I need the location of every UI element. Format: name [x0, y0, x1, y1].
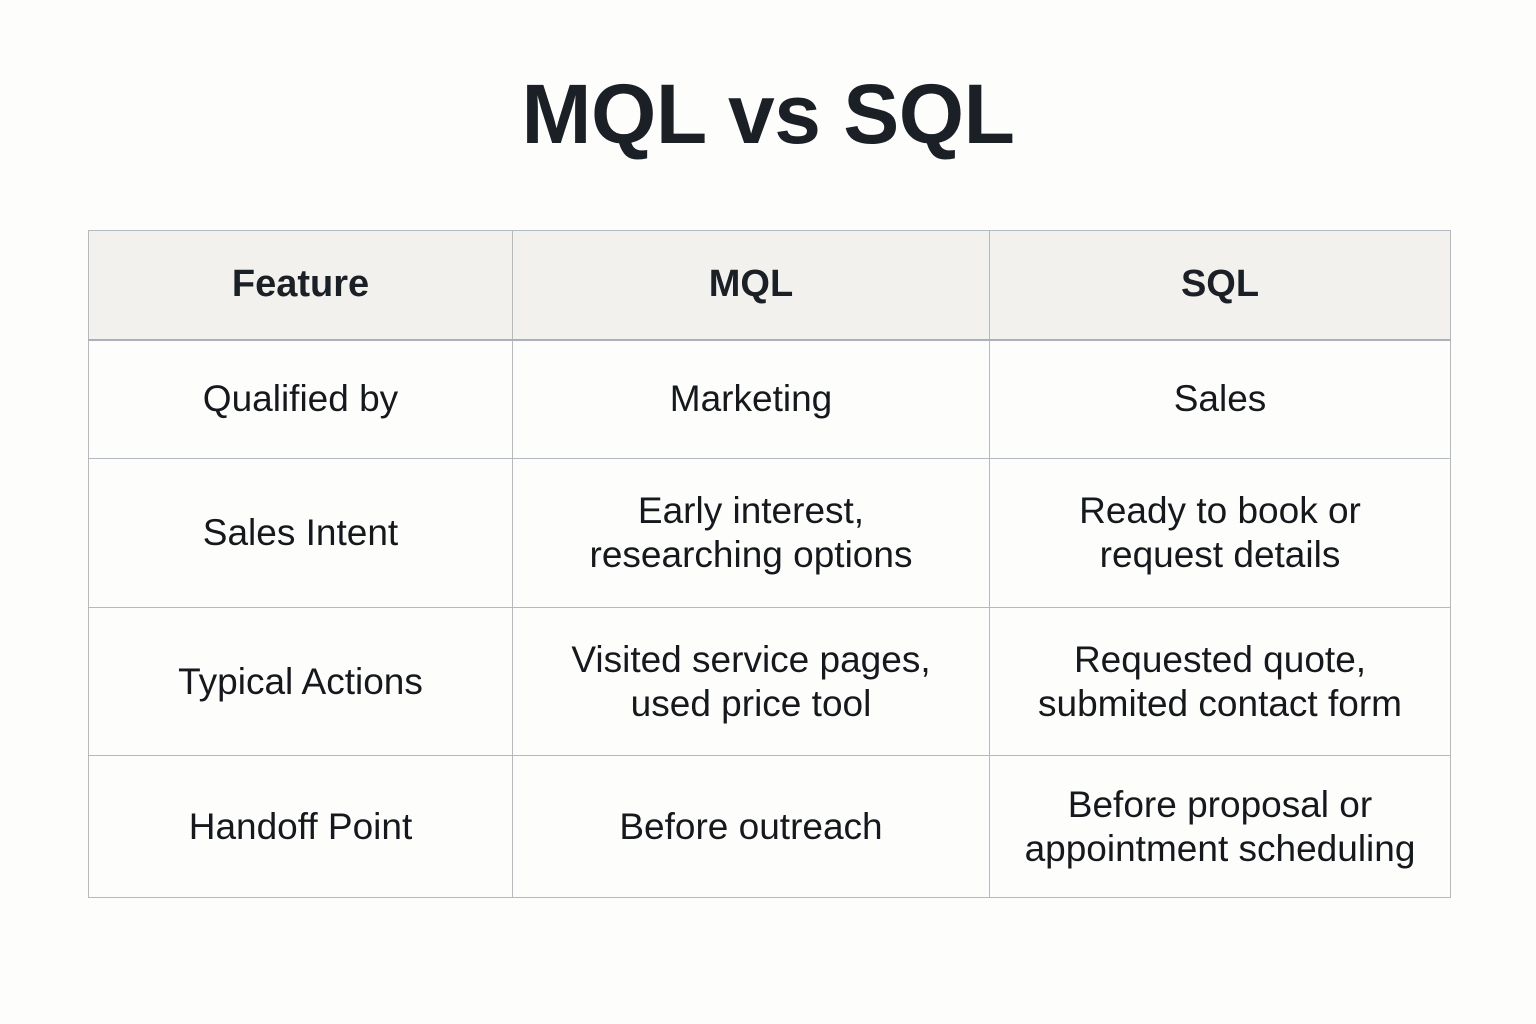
cell-mql: Before outreach — [513, 756, 990, 898]
table-row: Handoff Point Before outreach Before pro… — [89, 756, 1451, 898]
cell-sql: Before proposal or appointment schedulin… — [990, 756, 1451, 898]
page-title: MQL vs SQL — [0, 72, 1536, 156]
column-header-sql-label: SQL — [1004, 262, 1436, 308]
cell-mql-text: Visited service pages, used price tool — [527, 638, 975, 725]
column-header-feature: Feature — [89, 231, 513, 340]
table-row: Typical Actions Visited service pages, u… — [89, 608, 1451, 756]
cell-mql-text: Marketing — [527, 377, 975, 421]
cell-feature-text: Typical Actions — [103, 660, 498, 704]
comparison-table: Feature MQL SQL Qualified by Ma — [88, 230, 1451, 898]
cell-feature: Qualified by — [89, 340, 513, 459]
cell-feature: Sales Intent — [89, 459, 513, 608]
slide-canvas: MQL vs SQL Feature MQL SQL — [0, 0, 1536, 1024]
comparison-table-container: Feature MQL SQL Qualified by Ma — [88, 230, 1450, 898]
table-header-row: Feature MQL SQL — [89, 231, 1451, 340]
cell-mql: Marketing — [513, 340, 990, 459]
cell-feature-text: Sales Intent — [103, 511, 498, 555]
cell-sql-text: Sales — [1004, 377, 1436, 421]
cell-feature: Typical Actions — [89, 608, 513, 756]
table-body: Qualified by Marketing Sales Sales Inten… — [89, 340, 1451, 898]
cell-sql-text: Requested quote, submited contact form — [1004, 638, 1436, 725]
column-header-mql: MQL — [513, 231, 990, 340]
cell-feature-text: Qualified by — [103, 377, 498, 421]
cell-mql: Early interest, researching options — [513, 459, 990, 608]
cell-feature: Handoff Point — [89, 756, 513, 898]
cell-sql-text: Before proposal or appointment schedulin… — [1004, 783, 1436, 870]
cell-mql-text: Early interest, researching options — [527, 489, 975, 576]
table-row: Qualified by Marketing Sales — [89, 340, 1451, 459]
column-header-sql: SQL — [990, 231, 1451, 340]
cell-feature-text: Handoff Point — [103, 805, 498, 849]
cell-mql-text: Before outreach — [527, 805, 975, 849]
table-row: Sales Intent Early interest, researching… — [89, 459, 1451, 608]
cell-sql: Ready to book or request details — [990, 459, 1451, 608]
cell-sql: Sales — [990, 340, 1451, 459]
cell-mql: Visited service pages, used price tool — [513, 608, 990, 756]
table-header: Feature MQL SQL — [89, 231, 1451, 340]
column-header-mql-label: MQL — [527, 262, 975, 308]
column-header-feature-label: Feature — [103, 262, 498, 308]
cell-sql: Requested quote, submited contact form — [990, 608, 1451, 756]
cell-sql-text: Ready to book or request details — [1004, 489, 1436, 576]
